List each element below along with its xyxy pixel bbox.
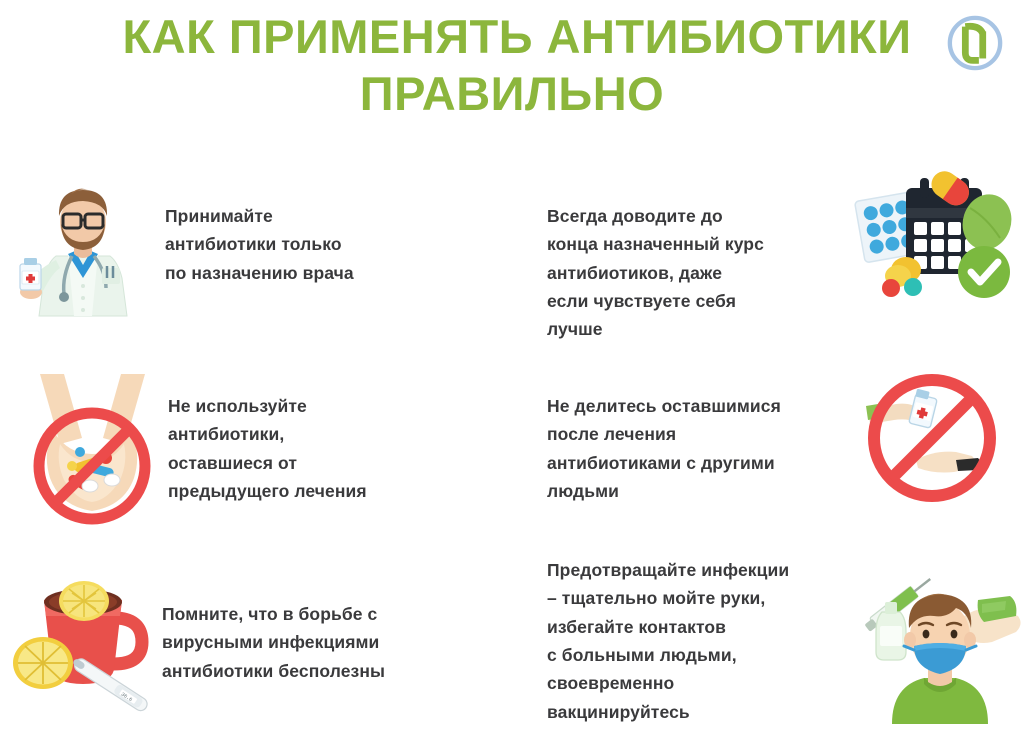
tip-prescription: Принимайте антибиотики только по назначе… xyxy=(0,160,512,350)
masked-person-vaccine-soap-illustration xyxy=(852,560,1024,725)
page-title-line-1: КАК ПРИМЕНЯТЬ АНТИБИОТИКИ xyxy=(0,8,1024,65)
hands-holding-pills-prohibited-illustration xyxy=(20,366,165,521)
sharing-medicine-prohibited-illustration xyxy=(860,368,1010,508)
tip-finish-course-text: Всегда доводите до конца назначенный кур… xyxy=(547,202,857,344)
tip-prevention: Предотвращайте инфекции – тщательно мойт… xyxy=(512,548,1024,729)
tea-mug-lemon-thermometer-illustration: 36.6 xyxy=(10,566,165,716)
tip-prescription-text: Принимайте антибиотики только по назначе… xyxy=(165,202,465,287)
tip-no-leftovers: Не используйте антибиотики, оставшиеся о… xyxy=(0,360,512,535)
tip-prevention-text: Предотвращайте инфекции – тщательно мойт… xyxy=(547,556,857,726)
page-title-line-2: ПРАВИЛЬНО xyxy=(0,65,1024,122)
tip-no-leftovers-text: Не используйте антибиотики, оставшиеся о… xyxy=(168,392,478,505)
tip-no-sharing: Не делитесь оставшимися после лечения ан… xyxy=(512,360,1024,535)
tips-row-2: Не используйте антибиотики, оставшиеся о… xyxy=(0,360,1024,535)
calendar-pills-checkmark-illustration xyxy=(850,160,1018,310)
doctor-with-medicine-bottle-illustration xyxy=(8,168,158,318)
tip-no-sharing-text: Не делитесь оставшимися после лечения ан… xyxy=(547,392,862,505)
infographic-poster: КАК ПРИМЕНЯТЬ АНТИБИОТИКИ ПРАВИЛЬНО xyxy=(0,0,1024,729)
tip-finish-course: Всегда доводите до конца назначенный кур… xyxy=(512,160,1024,350)
tip-viruses-useless: 36.6 Помните, что в борьбе с вирусными и… xyxy=(0,548,512,729)
tips-row-3: 36.6 Помните, что в борьбе с вирусными и… xyxy=(0,548,1024,729)
tip-viruses-useless-text: Помните, что в борьбе с вирусными инфекц… xyxy=(162,600,482,685)
poster-header: КАК ПРИМЕНЯТЬ АНТИБИОТИКИ ПРАВИЛЬНО xyxy=(0,8,1024,123)
clinic-monogram-logo xyxy=(946,14,1004,72)
tips-row-1: Принимайте антибиотики только по назначе… xyxy=(0,160,1024,350)
